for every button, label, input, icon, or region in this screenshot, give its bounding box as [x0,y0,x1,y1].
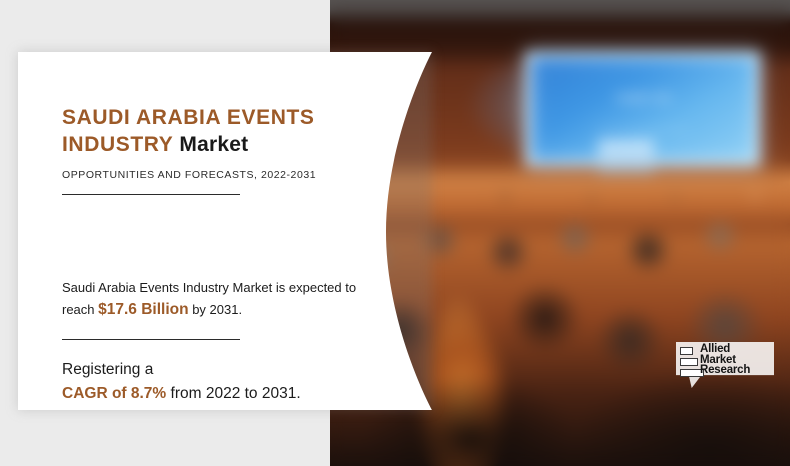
cagr-lead: Registering a [62,358,362,382]
page-title: SAUDI ARABIA EVENTS INDUSTRY Market [62,104,362,158]
photo-top-band [330,0,790,24]
title-divider [62,194,240,195]
projector-screen-title: THANK YOU [562,92,723,104]
cagr-tail: from 2022 to 2031. [166,385,300,402]
cagr-statement: CAGR of 8.7% from 2022 to 2031. [62,382,362,406]
logo-text: Allied Market Research [700,344,750,376]
cagr-value: CAGR of 8.7% [62,385,166,402]
statement-divider [62,339,240,340]
logo-line-3: Research [700,365,750,376]
statement-tail: by 2031. [189,302,243,317]
market-value-statement: Saudi Arabia Events Industry Market is e… [62,277,362,321]
allied-market-research-logo: Allied Market Research [676,342,774,388]
logo-line-1: Allied [700,344,750,355]
title-accent-line2: INDUSTRY [62,133,173,156]
projector-screen-subtitle: INTERNATIONAL CONFERENCE [562,126,723,134]
card-content: SAUDI ARABIA EVENTS INDUSTRY Market OPPO… [62,104,362,406]
title-accent-line1: SAUDI ARABIA EVENTS [62,106,315,129]
market-value: $17.6 Billion [98,301,188,318]
content-card: SAUDI ARABIA EVENTS INDUSTRY Market OPPO… [18,52,432,410]
title-plain-word: Market [179,133,248,156]
page-subtitle: OPPORTUNITIES AND FORECASTS, 2022-2031 [62,169,362,181]
infographic-canvas: THANK YOU INTERNATIONAL CONFERENCE SAUDI… [0,0,790,466]
podium-shape [598,140,654,174]
